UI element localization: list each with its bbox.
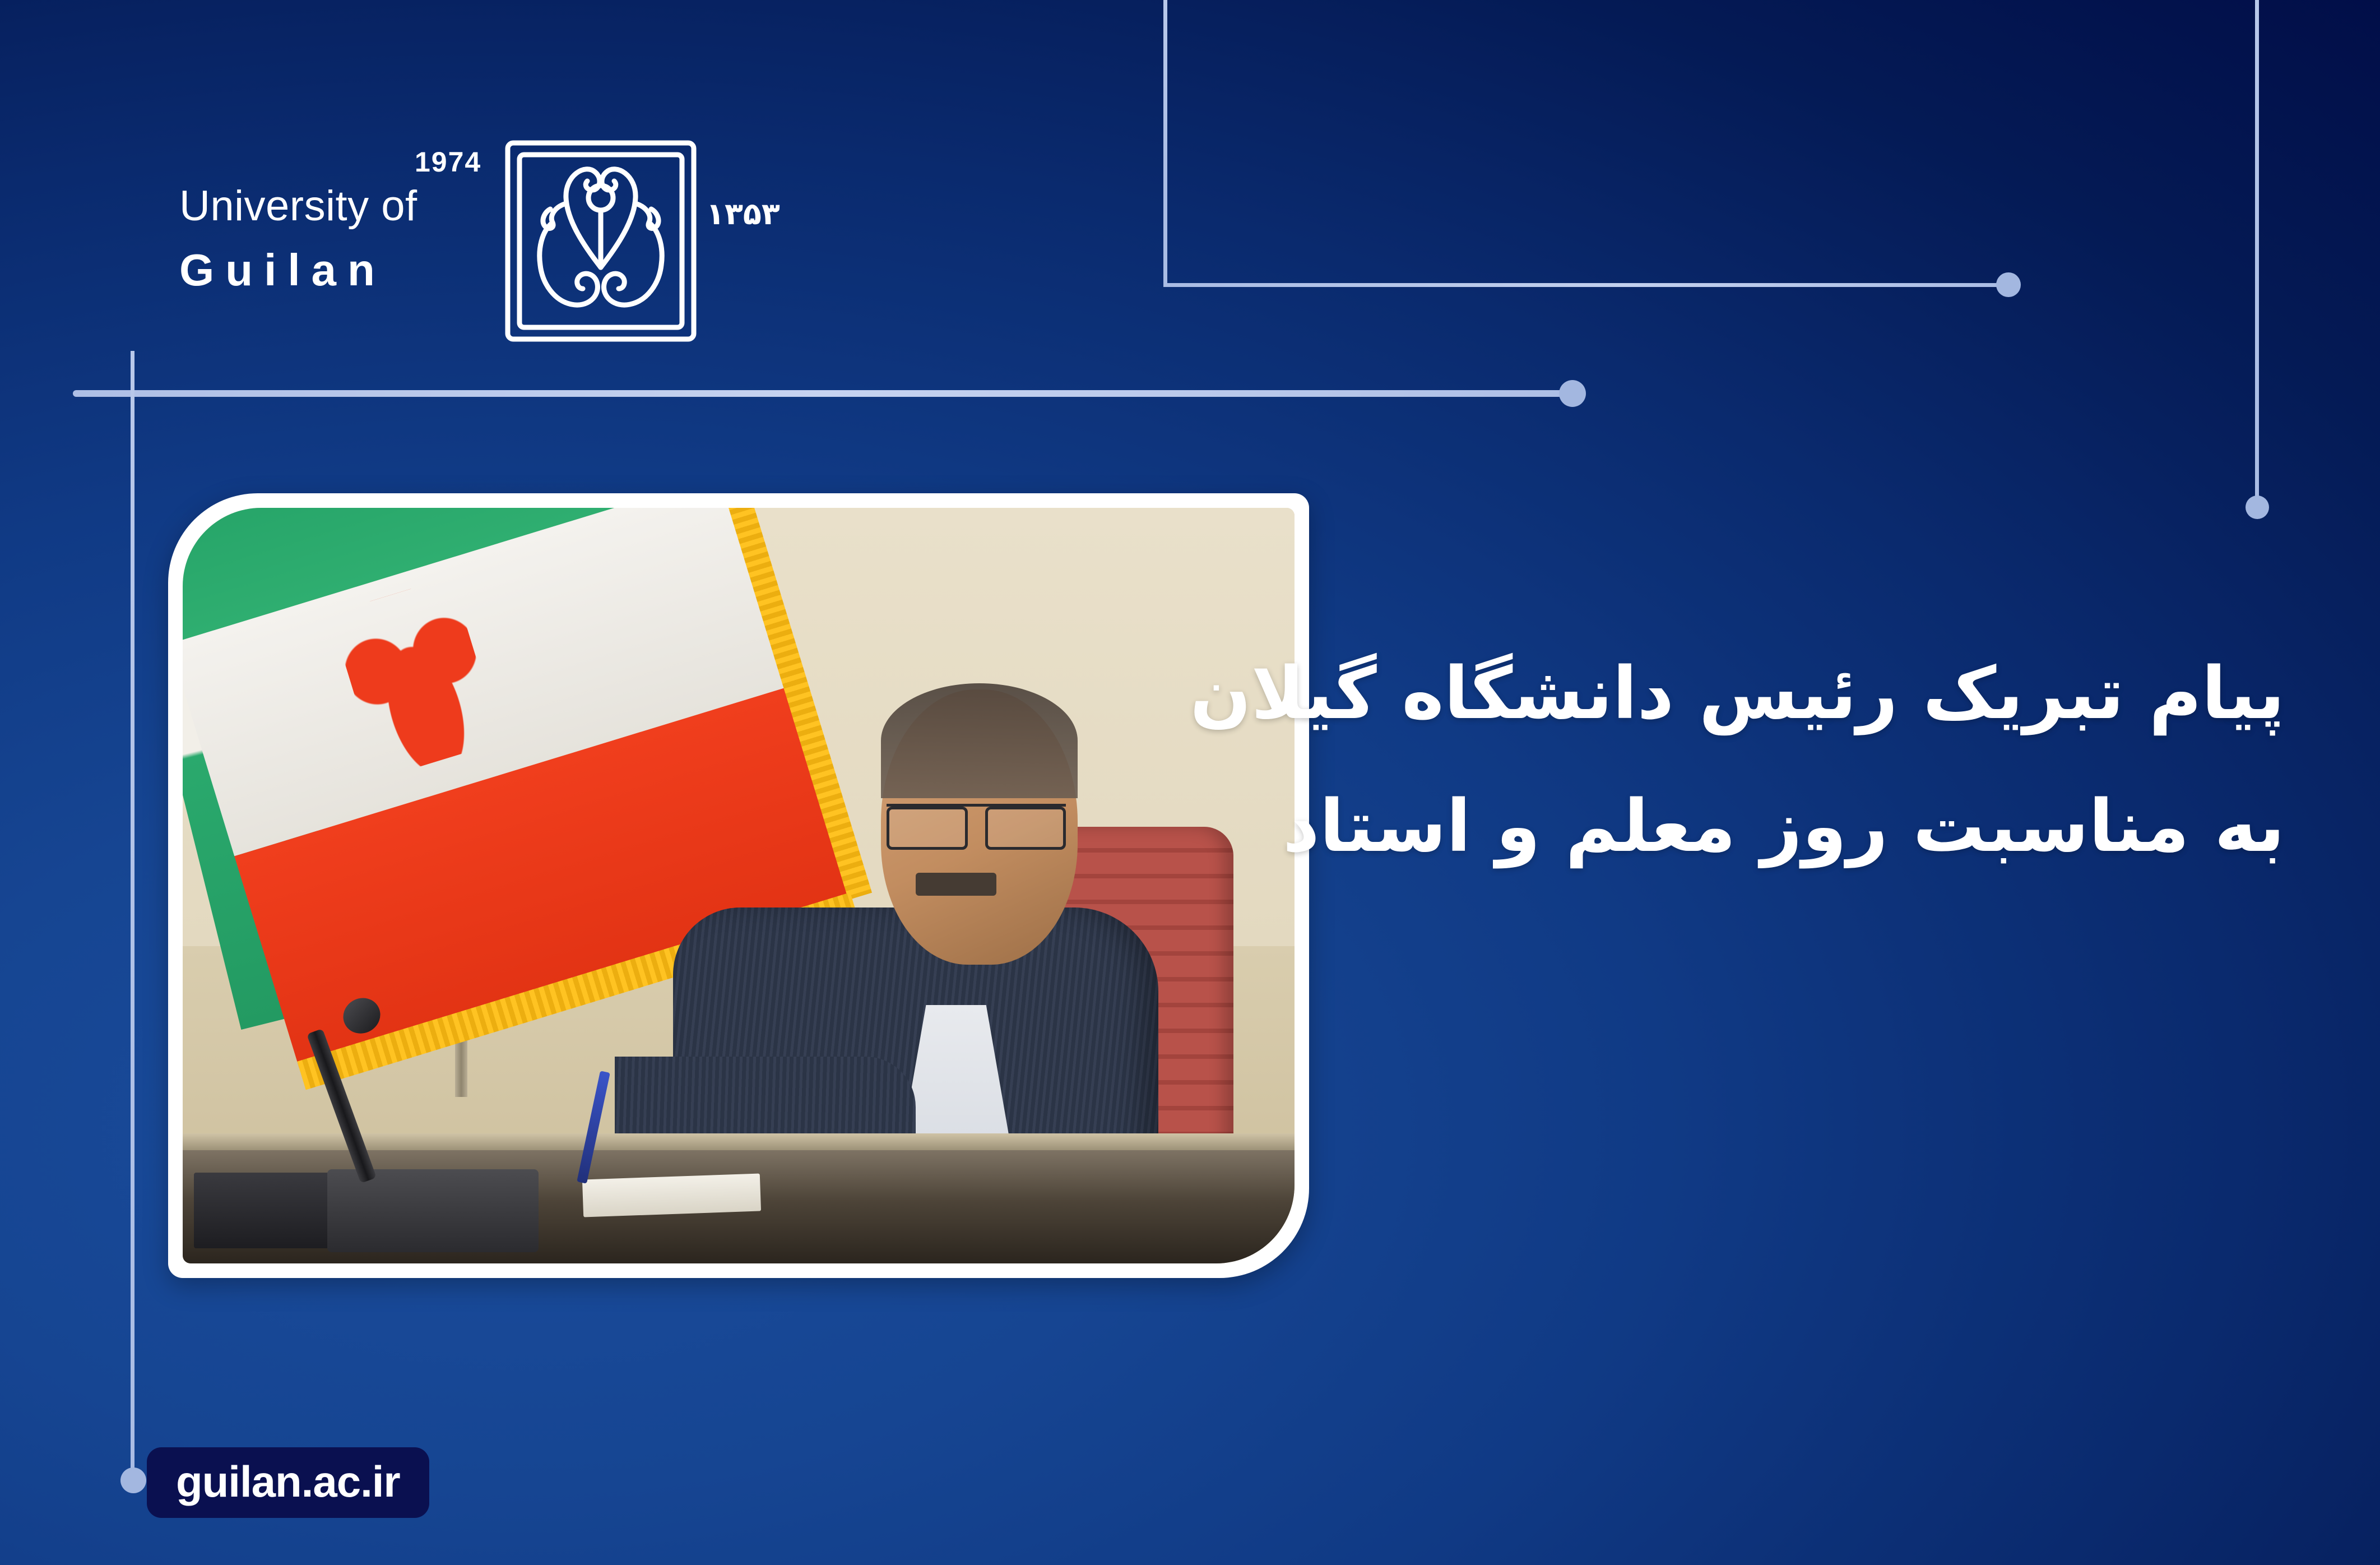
logo-persian-name: دانشگاه گیلان (684, 123, 1154, 348)
decorative-hline-top-right (1163, 283, 2007, 287)
poster-canvas: University of Guilan 1974 ۱۳۵۳ (0, 0, 2380, 1565)
photo-card (168, 493, 1309, 1278)
headline: پیام تبریک رئیس دانشگاه گیلان به مناسبت … (1164, 628, 2285, 893)
headline-line-2: به مناسبت روز معلم و استاد (1164, 761, 2285, 893)
decorative-dot-right (2246, 496, 2269, 519)
photo-image (183, 508, 1295, 1263)
logo-year-gregorian: 1974 (415, 146, 481, 178)
headline-line-1: پیام تبریک رئیس دانشگاه گیلان (1164, 628, 2285, 761)
decorative-dot-left-bottom (120, 1467, 146, 1493)
decorative-dot-mid-left (1559, 380, 1586, 407)
paper-sheet (582, 1173, 762, 1217)
mustache (916, 873, 996, 896)
logo-english-name: University of Guilan (179, 185, 493, 293)
decorative-vline-right (2255, 0, 2259, 508)
university-logo: University of Guilan 1974 ۱۳۵۳ (168, 140, 1154, 359)
svg-text:دانشگاه گیلان: دانشگاه گیلان (1149, 187, 1154, 311)
hair (881, 683, 1078, 798)
eyeglasses-icon (887, 804, 1066, 844)
logo-english-line1: University of (179, 185, 493, 228)
decorative-vline-left (131, 351, 134, 1484)
logo-english-line2: Guilan (179, 248, 493, 293)
decorative-hline-mid-left (73, 390, 1569, 397)
notebook (194, 1173, 350, 1248)
guilan-university-emblem-icon (501, 137, 700, 345)
decorative-vline-top-center (1163, 0, 1167, 286)
website-badge[interactable]: guilan.ac.ir (147, 1447, 429, 1518)
decorative-dot-top-right (1996, 272, 2021, 297)
microphone-base (327, 1169, 539, 1252)
